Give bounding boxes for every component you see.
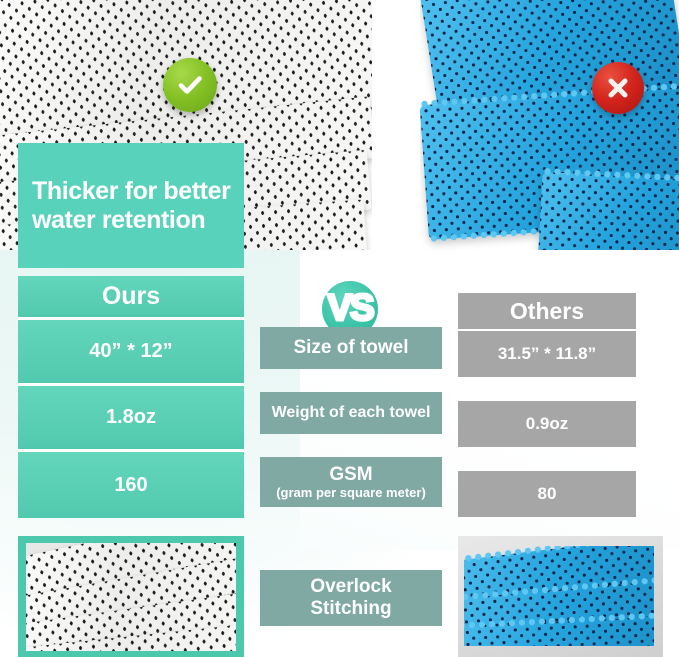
attribute-subtext: (gram per square meter) xyxy=(276,486,426,500)
check-icon xyxy=(163,58,217,112)
attribute-label-stitching: Overlock Stitching xyxy=(260,570,442,626)
infographic-canvas: Thicker for better water retention Ours … xyxy=(0,0,679,657)
attribute-text: GSM xyxy=(329,465,372,485)
product-photo-ours-bottom xyxy=(18,536,244,657)
ours-value-weight: 1.8oz xyxy=(18,386,244,452)
ours-value-size: 40” * 12” xyxy=(18,320,244,386)
attribute-subtext: Stitching xyxy=(310,598,391,620)
ours-value-gsm: 160 xyxy=(18,452,244,518)
scalloped-edge xyxy=(464,546,654,567)
column-ours: Ours 40” * 12” 1.8oz 160 xyxy=(18,276,244,518)
attribute-text: Weight of each towel xyxy=(272,404,431,422)
towel-fold xyxy=(464,616,654,646)
column-attribute-labels: Size of towel Weight of each towel GSM (… xyxy=(260,327,442,507)
attribute-label-weight: Weight of each towel xyxy=(260,392,442,434)
headline-line-1: Thicker for better xyxy=(32,177,230,206)
ours-header: Ours xyxy=(18,276,244,320)
others-value-size: 31.5” * 11.8” xyxy=(458,331,636,377)
towel-fold xyxy=(538,172,679,250)
others-value-weight: 0.9oz xyxy=(458,401,636,447)
headline-panel: Thicker for better water retention xyxy=(18,143,244,268)
attribute-label-gsm: GSM (gram per square meter) xyxy=(260,457,442,507)
attribute-label-size: Size of towel xyxy=(260,327,442,369)
photo-frame xyxy=(26,543,236,651)
cross-icon xyxy=(592,62,644,114)
others-header: Others xyxy=(458,293,636,331)
photo-frame xyxy=(464,546,654,646)
product-photo-others-top xyxy=(420,0,679,250)
headline-line-2: water retention xyxy=(32,206,230,235)
others-value-gsm: 80 xyxy=(458,471,636,517)
column-others: Others 31.5” * 11.8” 0.9oz 80 xyxy=(458,293,636,517)
attribute-text: Overlock xyxy=(310,576,391,598)
product-photo-others-bottom xyxy=(458,536,663,657)
vs-label: VS xyxy=(327,287,372,329)
attribute-text: Size of towel xyxy=(293,337,408,359)
